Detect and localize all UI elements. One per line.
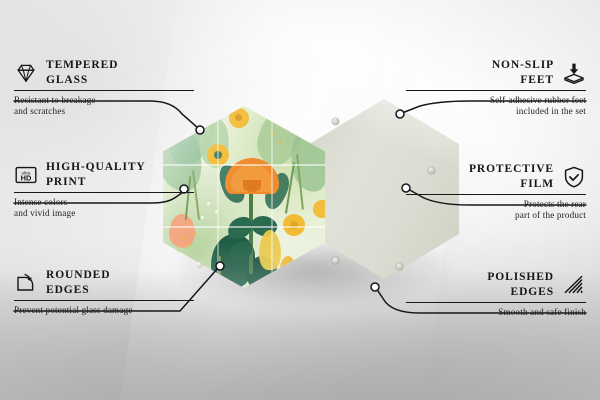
feature-title-line1: NON-SLIP (492, 58, 554, 73)
feature-desc-line2: and scratches (14, 106, 194, 117)
glass-reflection-band (163, 226, 325, 228)
infographic-canvas: TEMPERED GLASS Resistant to breakage and… (0, 0, 600, 400)
feature-title-line1: TEMPERED (46, 58, 118, 73)
feature-desc-line1: Prevent potential glass damage (14, 305, 194, 316)
feature-non-slip-feet: NON-SLIP FEET Self-adhesive rubber feet … (406, 58, 586, 118)
rounded-corner-icon (14, 271, 38, 295)
feature-divider (406, 302, 586, 303)
press-down-pad-icon (562, 61, 586, 85)
glass-reflection-band (271, 106, 273, 288)
feature-divider (14, 192, 194, 193)
feature-header: TEMPERED GLASS (14, 58, 194, 87)
feature-header: POLISHED EDGES (406, 270, 586, 299)
feature-title-line2: PRINT (46, 175, 146, 190)
feature-description: Resistant to breakage and scratches (14, 95, 194, 118)
feature-title: TEMPERED GLASS (46, 58, 118, 87)
glass-reflection-band (217, 106, 219, 288)
feature-desc-line2: part of the product (406, 210, 586, 221)
feature-title: ROUNDED EDGES (46, 268, 110, 297)
rubber-foot (332, 257, 339, 264)
feature-divider (406, 90, 586, 91)
feature-title-line2: FILM (469, 177, 554, 192)
feature-description: Protects the rear part of the product (406, 199, 586, 222)
rubber-foot (196, 124, 202, 130)
feature-description: Prevent potential glass damage (14, 305, 194, 316)
feature-header: NON-SLIP FEET (406, 58, 586, 87)
feature-desc-line1: Smooth and safe finish (406, 307, 586, 318)
feature-desc-line2: and vivid image (14, 208, 194, 219)
svg-text:HD: HD (21, 173, 32, 182)
feature-title-line1: ROUNDED (46, 268, 110, 283)
feature-title: POLISHED EDGES (487, 270, 554, 299)
shield-check-icon (562, 165, 586, 189)
rubber-foot (332, 118, 339, 125)
feature-polished-edges: POLISHED EDGES Smooth and safe finish (406, 270, 586, 318)
feature-tempered-glass: TEMPERED GLASS Resistant to breakage and… (14, 58, 194, 118)
feature-description: Intense colors and vivid image (14, 197, 194, 220)
feature-header: ROUNDED EDGES (14, 268, 194, 297)
feature-desc-line2: included in the set (406, 106, 586, 117)
feature-title-line1: PROTECTIVE (469, 162, 554, 177)
feature-title: NON-SLIP FEET (492, 58, 554, 87)
feature-header: PROTECTIVE FILM (406, 162, 586, 191)
feature-description: Self-adhesive rubber feet included in th… (406, 95, 586, 118)
feature-desc-line1: Resistant to breakage (14, 95, 194, 106)
feature-rounded-edges: ROUNDED EDGES Prevent potential glass da… (14, 268, 194, 316)
feature-title-line1: HIGH-QUALITY (46, 160, 146, 175)
diamond-icon (14, 61, 38, 85)
hatched-triangle-icon (562, 273, 586, 297)
ultra-hd-icon: ultra HD (14, 163, 38, 187)
feature-title: PROTECTIVE FILM (469, 162, 554, 191)
feature-title: HIGH-QUALITY PRINT (46, 160, 146, 189)
feature-title-line2: EDGES (487, 285, 554, 300)
feature-divider (14, 90, 194, 91)
rubber-foot (196, 262, 202, 268)
feature-title-line2: EDGES (46, 283, 110, 298)
feature-title-line2: GLASS (46, 73, 118, 88)
feature-title-line2: FEET (492, 73, 554, 88)
feature-desc-line1: Protects the rear (406, 199, 586, 210)
feature-desc-line1: Intense colors (14, 197, 194, 208)
feature-desc-line1: Self-adhesive rubber feet (406, 95, 586, 106)
feature-divider (406, 194, 586, 195)
rubber-foot (396, 263, 403, 270)
feature-high-quality-print: ultra HD HIGH-QUALITY PRINT Intense colo… (14, 160, 194, 220)
feature-protective-film: PROTECTIVE FILM Protects the rear part o… (406, 162, 586, 222)
feature-description: Smooth and safe finish (406, 307, 586, 318)
feature-divider (14, 300, 194, 301)
feature-title-line1: POLISHED (487, 270, 554, 285)
feature-header: ultra HD HIGH-QUALITY PRINT (14, 160, 194, 189)
